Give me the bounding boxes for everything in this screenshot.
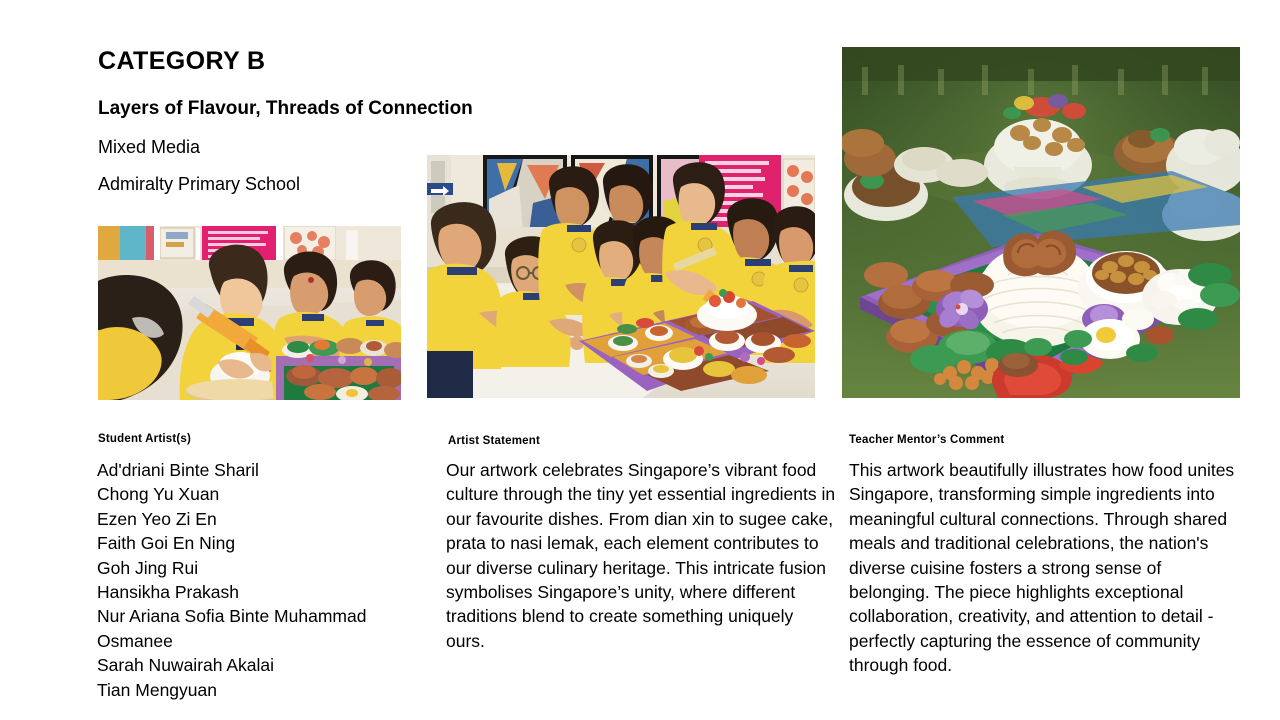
teacher-comment-text: This artwork beautifully illustrates how… — [849, 458, 1241, 678]
photo-group-worktable — [427, 155, 815, 398]
heading-teacher-comment: Teacher Mentor’s Comment — [849, 434, 1004, 447]
list-item: Tian Mengyuan — [97, 678, 437, 702]
list-item: Sarah Nuwairah Akalai — [97, 653, 437, 677]
photo-process-closeup — [98, 226, 401, 400]
artwork-medium: Mixed Media — [98, 137, 200, 158]
heading-artist-statement: Artist Statement — [448, 435, 540, 448]
student-artist-list: Ad'driani Binte Sharil Chong Yu Xuan Eze… — [97, 458, 437, 702]
page-title: CATEGORY B — [98, 48, 265, 76]
list-item: Faith Goi En Ning — [97, 531, 437, 555]
list-item: Goh Jing Rui — [97, 556, 437, 580]
teacher-comment-paragraph: This artwork beautifully illustrates how… — [849, 458, 1241, 678]
heading-student-artists: Student Artist(s) — [98, 433, 191, 446]
photo-artwork-final — [842, 47, 1240, 398]
artist-statement-paragraph: Our artwork celebrates Singapore’s vibra… — [446, 458, 836, 653]
artwork-school: Admiralty Primary School — [98, 174, 300, 195]
artwork-title: Layers of Flavour, Threads of Connection — [98, 98, 473, 120]
list-item: Chong Yu Xuan — [97, 482, 437, 506]
artist-statement-text: Our artwork celebrates Singapore’s vibra… — [446, 458, 836, 653]
list-item: Hansikha Prakash — [97, 580, 437, 604]
list-item: Ezen Yeo Zi En — [97, 507, 437, 531]
list-item: Nur Ariana Sofia Binte Muhammad Osmanee — [97, 604, 437, 653]
list-item: Ad'driani Binte Sharil — [97, 458, 437, 482]
